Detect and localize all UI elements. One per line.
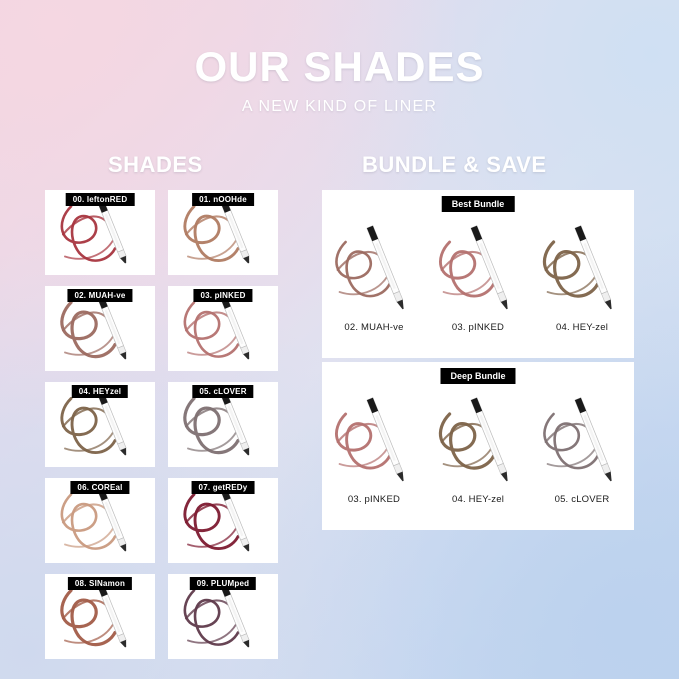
shade-label: 01. nOOHde — [192, 193, 254, 206]
bundle-tag: Best Bundle — [442, 196, 515, 212]
shade-label: 05. cLOVER — [192, 385, 253, 398]
bundle-item-art — [322, 214, 426, 322]
bundle-item-art — [426, 386, 530, 494]
bundle-swatch-art — [426, 386, 530, 494]
shade-label: 02. MUAH-ve — [67, 289, 132, 302]
shade-card[interactable]: 01. nOOHde — [168, 190, 278, 275]
bundle-item-art — [426, 214, 530, 322]
bundle-swatch-art — [530, 214, 634, 322]
shade-card[interactable]: 09. PLUMped — [168, 574, 278, 659]
shade-card[interactable]: 06. COREal — [45, 478, 155, 563]
bundle-card-deep: Deep Bundle 03. pINKED 04. HEY-zel 05. c… — [322, 362, 634, 530]
bundle-item[interactable]: 03. pINKED — [426, 214, 530, 358]
shade-card[interactable]: 02. MUAH-ve — [45, 286, 155, 371]
bundle-swatch-art — [322, 214, 426, 322]
bundle-item[interactable]: 05. cLOVER — [530, 386, 634, 530]
shade-card[interactable]: 05. cLOVER — [168, 382, 278, 467]
page-title: OUR SHADES — [0, 46, 679, 88]
shade-label: 09. PLUMped — [190, 577, 256, 590]
bundle-item[interactable]: 04. HEY-zel — [530, 214, 634, 358]
shade-label: 06. COREal — [70, 481, 129, 494]
shade-label: 08. SINamon — [68, 577, 132, 590]
bundle-swatch-art — [426, 214, 530, 322]
bundle-items: 02. MUAH-ve 03. pINKED 04. HEY-zel — [322, 214, 634, 358]
bundle-item-art — [530, 386, 634, 494]
shade-card[interactable]: 03. pINKED — [168, 286, 278, 371]
shade-label: 03. pINKED — [193, 289, 252, 302]
bundle-item-label: 02. MUAH-ve — [344, 322, 403, 333]
shade-label: 07. getREDy — [192, 481, 255, 494]
shades-section-heading: SHADES — [108, 152, 203, 178]
bundle-section-heading: BUNDLE & SAVE — [362, 152, 547, 178]
shade-card[interactable]: 00. leftonRED — [45, 190, 155, 275]
bundle-swatch-art — [530, 386, 634, 494]
bundle-item-label: 03. pINKED — [348, 494, 400, 505]
bundle-item-art — [530, 214, 634, 322]
shade-label: 04. HEYzel — [72, 385, 128, 398]
bundle-item-label: 04. HEY-zel — [556, 322, 608, 333]
bundle-items: 03. pINKED 04. HEY-zel 05. cLOVER — [322, 386, 634, 530]
bundle-tag: Deep Bundle — [440, 368, 515, 384]
bundle-item-label: 03. pINKED — [452, 322, 504, 333]
bundle-card-best: Best Bundle 02. MUAH-ve 03. pINKED 04. H… — [322, 190, 634, 358]
bundle-item-label: 05. cLOVER — [555, 494, 610, 505]
bundle-item[interactable]: 04. HEY-zel — [426, 386, 530, 530]
shade-card[interactable]: 04. HEYzel — [45, 382, 155, 467]
shades-grid: 00. leftonRED 01. nOOHde 02. MUAH-ve 03.… — [45, 190, 298, 659]
page-subtitle: A NEW KIND OF LINER — [0, 98, 679, 116]
shade-label: 00. leftonRED — [66, 193, 135, 206]
bundle-item[interactable]: 02. MUAH-ve — [322, 214, 426, 358]
page-header: OUR SHADES A NEW KIND OF LINER — [0, 46, 679, 116]
bundle-item-label: 04. HEY-zel — [452, 494, 504, 505]
bundle-item-art — [322, 386, 426, 494]
bundle-swatch-art — [322, 386, 426, 494]
shade-card[interactable]: 07. getREDy — [168, 478, 278, 563]
shade-card[interactable]: 08. SINamon — [45, 574, 155, 659]
bundle-item[interactable]: 03. pINKED — [322, 386, 426, 530]
